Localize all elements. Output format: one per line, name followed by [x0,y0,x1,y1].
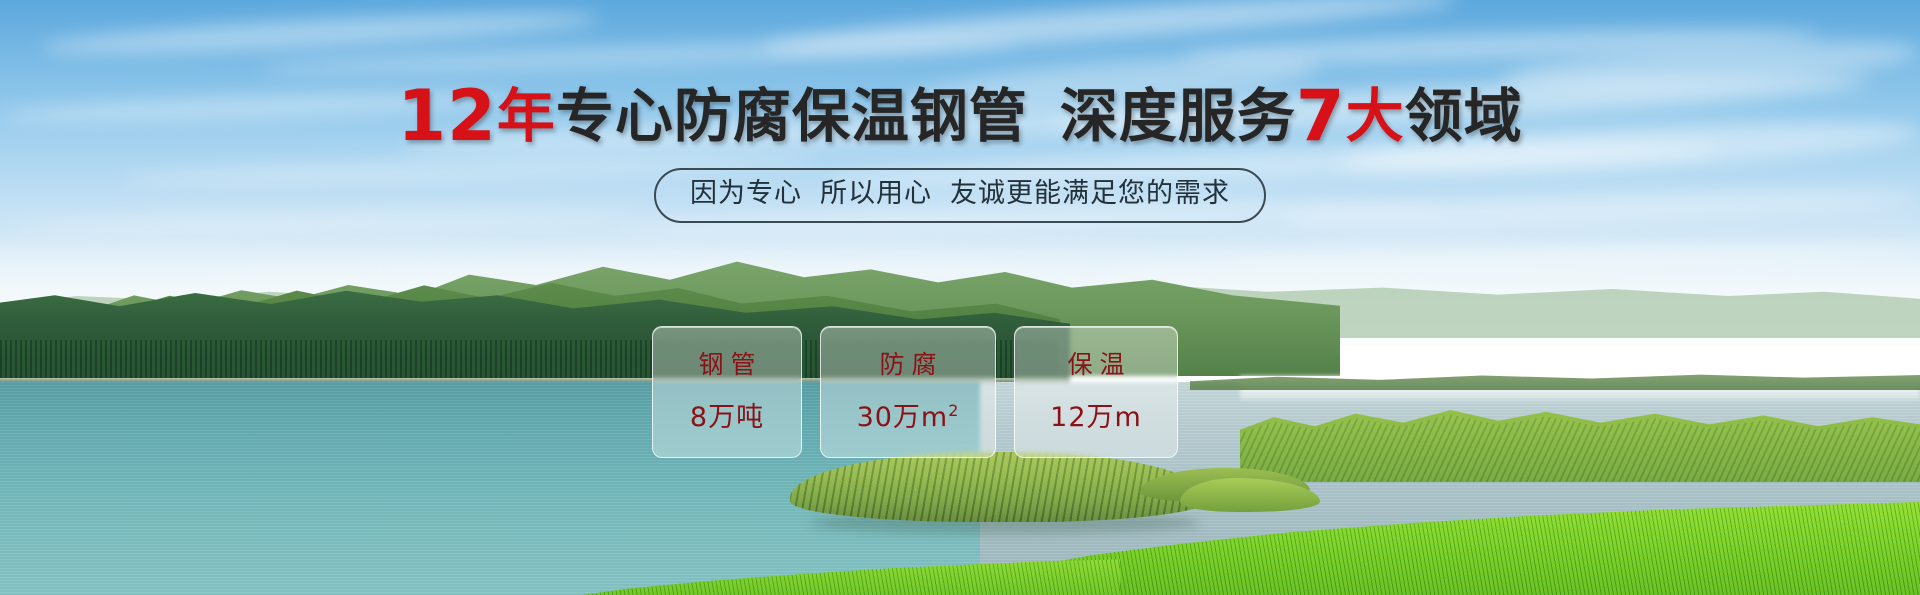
stat-card-title: 防腐 [872,350,943,380]
stat-card-value-text: 30万m [857,402,949,433]
headline-fields-text: 领域 [1405,82,1523,150]
headline-fields-unit: 大 [1346,82,1405,150]
headline-fields-number: 7 [1296,75,1346,157]
headline-service-text: 深度服务 [1060,82,1296,150]
stat-card-value: 8万吨 [690,402,764,434]
promo-banner: 12年专心防腐保温钢管深度服务7大领域 因为专心所以用心友诚更能满足您的需求 钢… [0,0,1920,595]
stat-card-title: 保温 [1060,350,1131,380]
stat-card-group: 钢管 8万吨 防腐 30万m2 保温 12万m [652,326,1178,458]
subtitle-segment-1: 因为专心 [690,178,802,209]
subtitle-container: 因为专心所以用心友诚更能满足您的需求 [0,168,1920,223]
stat-card-value-superscript: 2 [948,401,959,420]
headline-years-unit: 年 [497,82,556,150]
headline-years-number: 12 [397,75,496,157]
subtitle-segment-2: 所以用心 [820,178,932,209]
subtitle-pill: 因为专心所以用心友诚更能满足您的需求 [654,168,1266,223]
banner-content: 12年专心防腐保温钢管深度服务7大领域 因为专心所以用心友诚更能满足您的需求 钢… [0,0,1920,595]
stat-card-value-text: 12万m [1050,402,1142,433]
stat-card-value: 30万m2 [857,402,960,434]
subtitle-segment-3: 友诚更能满足您的需求 [950,178,1230,209]
stat-card-steel-pipe: 钢管 8万吨 [652,326,802,458]
headline-main-text: 专心防腐保温钢管 [556,82,1028,150]
headline: 12年专心防腐保温钢管深度服务7大领域 [0,84,1920,148]
stat-card-title: 钢管 [691,350,762,380]
stat-card-value: 12万m [1050,402,1142,434]
stat-card-value-text: 8万吨 [690,402,764,433]
stat-card-anticorrosion: 防腐 30万m2 [820,326,996,458]
stat-card-insulation: 保温 12万m [1014,326,1178,458]
